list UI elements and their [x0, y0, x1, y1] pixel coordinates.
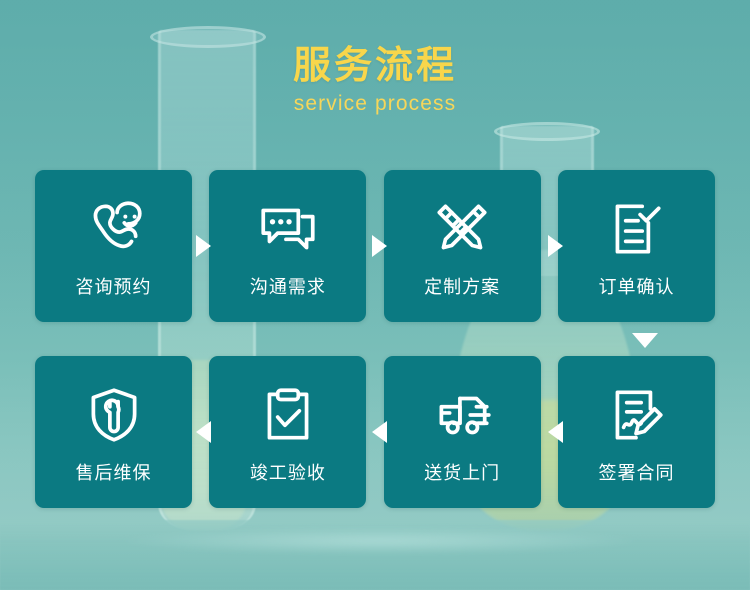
- step-card-4[interactable]: 订单确认: [558, 170, 715, 322]
- step-card-6[interactable]: 送货上门: [384, 356, 541, 508]
- step-card-2[interactable]: 沟通需求: [209, 170, 366, 322]
- contract-sign-icon: [603, 382, 669, 448]
- step-card-label: 订单确认: [598, 276, 674, 298]
- shield-wrench-icon: [81, 382, 147, 448]
- step-card-label: 咨询预约: [76, 276, 152, 298]
- page-subtitle: service process: [0, 92, 750, 116]
- clipboard-check-icon: [255, 382, 321, 448]
- step-card-7[interactable]: 竣工验收: [209, 356, 366, 508]
- document-check-icon: [603, 196, 669, 262]
- arrow-step5-to-step6: [548, 421, 563, 443]
- arrow-step2-to-step3: [372, 235, 387, 257]
- arrow-step6-to-step7: [372, 421, 387, 443]
- service-process-banner: 服务流程 service process 咨询预约: [0, 0, 750, 590]
- step-card-label: 竣工验收: [250, 462, 326, 484]
- phone-smiley-icon: [81, 196, 147, 262]
- page-title: 服务流程: [0, 44, 750, 88]
- arrow-step4-to-step5: [632, 333, 658, 348]
- step-card-1[interactable]: 咨询预约: [35, 170, 192, 322]
- step-card-8[interactable]: 售后维保: [35, 356, 192, 508]
- step-card-label: 送货上门: [424, 462, 500, 484]
- arrow-step3-to-step4: [548, 235, 563, 257]
- delivery-truck-icon: [429, 382, 495, 448]
- step-card-label: 定制方案: [424, 276, 500, 298]
- step-card-label: 签署合同: [598, 462, 674, 484]
- step-card-3[interactable]: 定制方案: [384, 170, 541, 322]
- step-card-label: 售后维保: [76, 462, 152, 484]
- banner-header: 服务流程 service process: [0, 44, 750, 116]
- chat-bubbles-icon: [255, 196, 321, 262]
- pencil-ruler-icon: [429, 196, 495, 262]
- step-card-label: 沟通需求: [250, 276, 326, 298]
- step-card-5[interactable]: 签署合同: [558, 356, 715, 508]
- arrow-step7-to-step8: [196, 421, 211, 443]
- arrow-step1-to-step2: [196, 235, 211, 257]
